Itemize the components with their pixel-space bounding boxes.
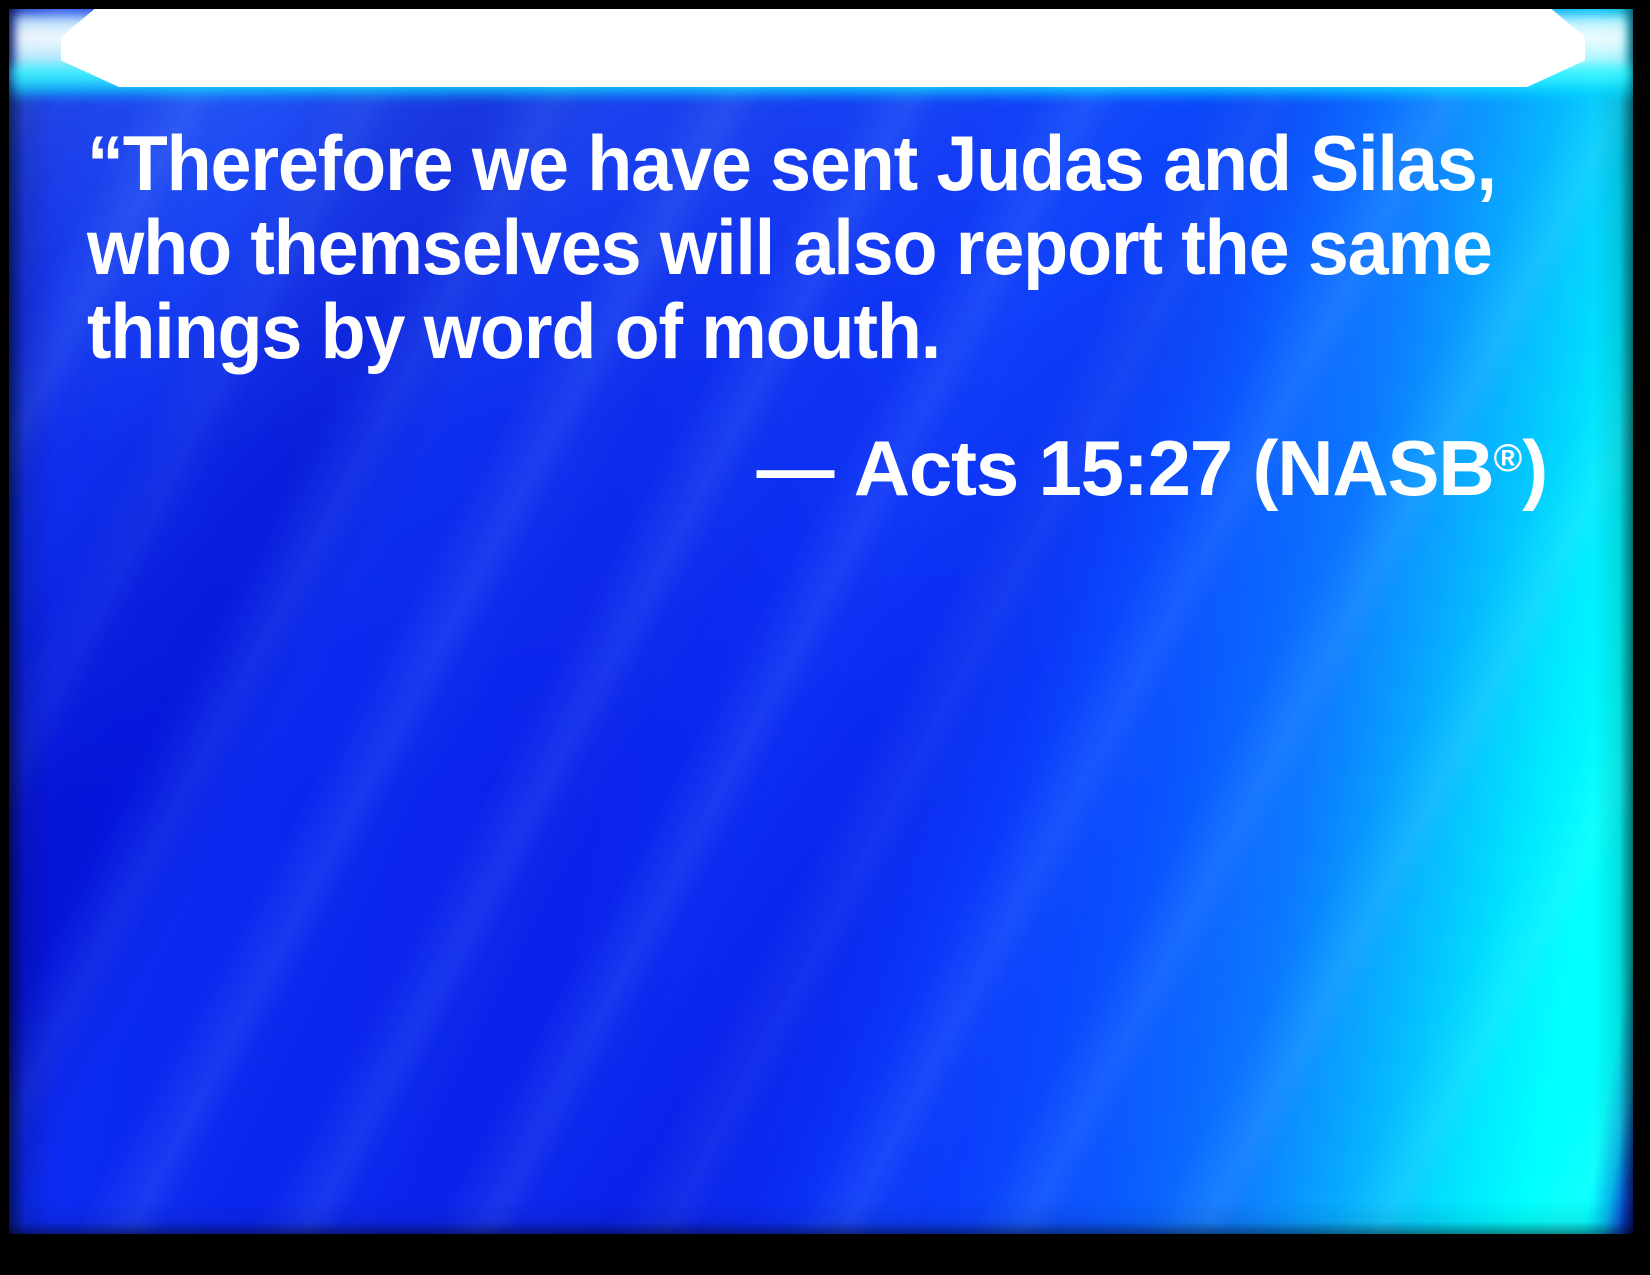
attribution-version-close: ) (1522, 424, 1547, 512)
attribution-reference: Acts 15:27 (854, 424, 1232, 512)
registered-trademark-icon: ® (1493, 437, 1522, 480)
verse-slide: “Therefore we have sent Judas and Silas,… (0, 0, 1650, 1275)
slide-background-canvas: “Therefore we have sent Judas and Silas,… (9, 9, 1633, 1234)
attribution-dash: — (756, 424, 833, 512)
verse-text-block: “Therefore we have sent Judas and Silas,… (87, 121, 1557, 510)
verse-attribution: — Acts 15:27 (NASB®) (87, 417, 1557, 510)
attribution-version-open: (NASB (1252, 424, 1493, 512)
verse-line-1: “Therefore we have sent Judas and Silas, (87, 121, 1476, 205)
verse-line-3: things by word of mouth. (87, 289, 1476, 373)
verse-line-2: who themselves will also report the same (87, 205, 1476, 289)
